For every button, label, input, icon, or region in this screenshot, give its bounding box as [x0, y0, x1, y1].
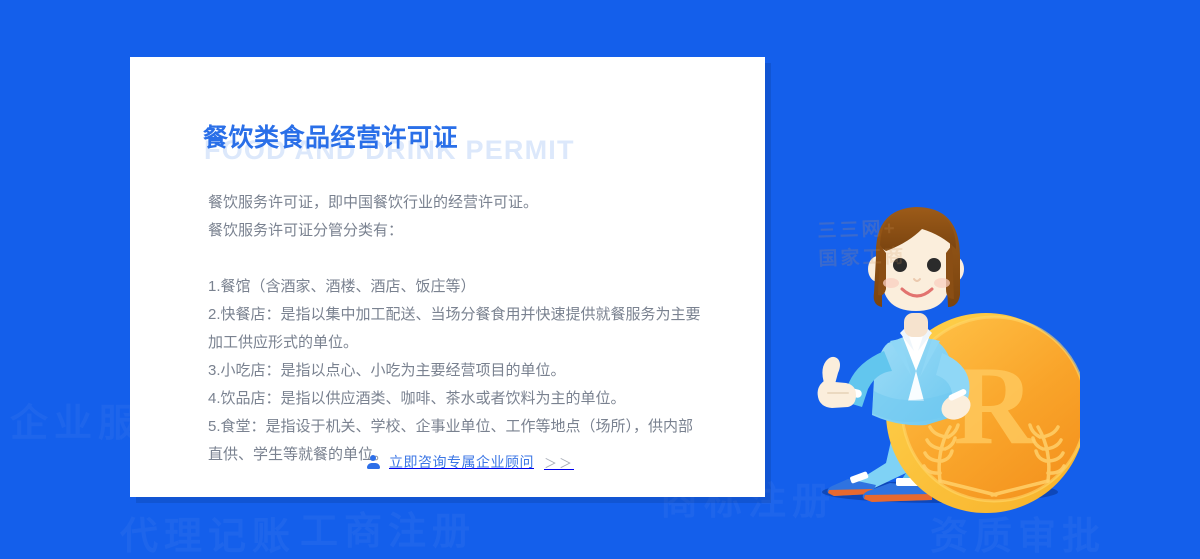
intro-line: 餐饮服务许可证，即中国餐饮行业的经营许可证。 [208, 189, 707, 217]
spacer [208, 245, 707, 273]
thumb-up [822, 357, 840, 384]
content-card: FOOD AND DRINK PERMIT 餐饮类食品经营许可证 餐饮服务许可证… [130, 57, 765, 497]
neck [904, 313, 928, 337]
consult-advisor-link[interactable]: 立即咨询专属企业顾问 ＞＞ [130, 452, 765, 472]
list-item: 2.快餐店：是指以集中加工配送、当场分餐食用并快速提供就餐服务为主要加工供应形式… [208, 301, 707, 357]
intro-line: 餐饮服务许可证分管分类有： [208, 217, 707, 245]
person-icon [367, 455, 380, 469]
background-watermark-text: 工商注册 [300, 500, 476, 555]
left-fist [818, 381, 856, 408]
page-title: 餐饮类食品经营许可证 [203, 118, 458, 154]
blush-right [934, 278, 950, 288]
eye-right [927, 258, 941, 272]
category-list: 1.餐馆（含酒家、酒楼、酒店、饭庄等） 2.快餐店：是指以集中加工配送、当场分餐… [208, 273, 707, 469]
blush-left [883, 278, 899, 288]
background-watermark-text: 代理记账 [120, 505, 296, 559]
list-item: 1.餐馆（含酒家、酒楼、酒店、饭庄等） [208, 273, 707, 301]
eye-left [893, 258, 907, 272]
list-item: 4.饮品店：是指以供应酒类、咖啡、茶水或者饮料为主的单位。 [208, 385, 707, 413]
card-body: 餐饮服务许可证，即中国餐饮行业的经营许可证。 餐饮服务许可证分管分类有： 1.餐… [170, 189, 725, 469]
card-header: FOOD AND DRINK PERMIT 餐饮类食品经营许可证 [170, 89, 725, 161]
list-item: 3.小吃店：是指以点心、小吃为主要经营项目的单位。 [208, 357, 707, 385]
businesswoman-coin-illustration: R [790, 195, 1080, 525]
chevron-right-icon: ＞＞ [544, 453, 574, 472]
intro-paragraphs: 餐饮服务许可证，即中国餐饮行业的经营许可证。 餐饮服务许可证分管分类有： [208, 189, 707, 245]
consult-advisor-label: 立即咨询专属企业顾问 [389, 452, 534, 472]
